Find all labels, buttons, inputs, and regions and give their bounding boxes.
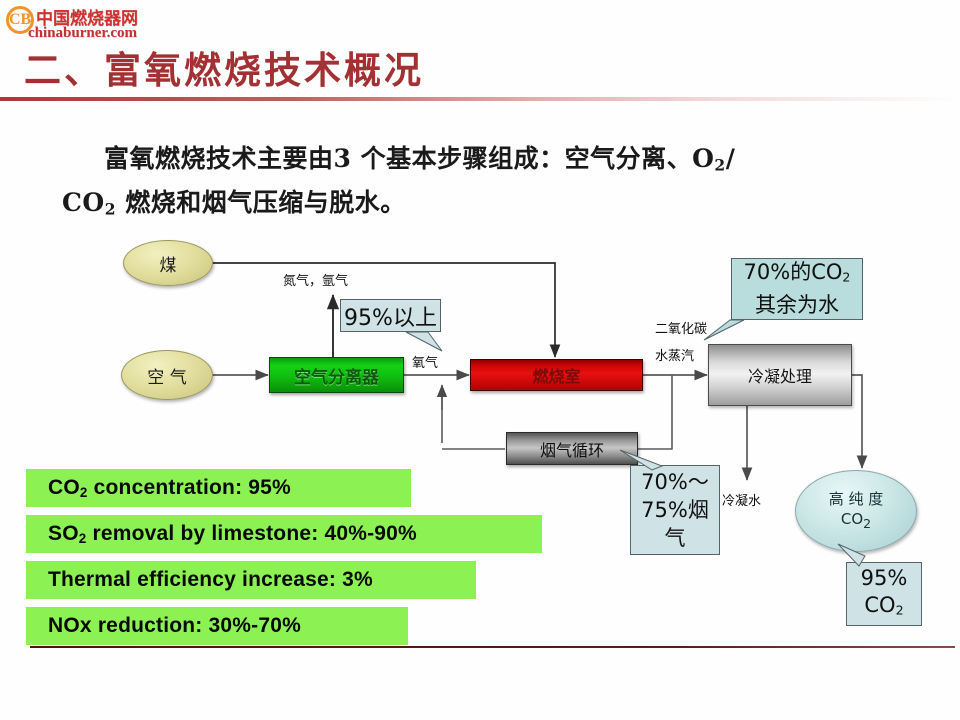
bullet-so2-removal: SO2 removal by limestone: 40%-90%: [26, 515, 542, 553]
callout-flue-gas-line2: 75%烟: [641, 496, 709, 524]
bullet-nox-reduction: NOx reduction: 30%-70%: [26, 607, 408, 645]
callout-co2-95-tail: [835, 542, 877, 568]
node-air-label: 空 气: [147, 363, 186, 388]
callout-co2-95-line1: 95%: [861, 565, 908, 592]
bullet-so2-removal-text: SO2 removal by limestone: 40%-90%: [48, 522, 417, 546]
node-furnace-label: 燃烧室: [532, 363, 580, 387]
slide-canvas: CB 中国燃烧器网 chinaburner.com 二、富氧燃烧技术概况 富氧燃…: [0, 0, 960, 720]
node-high-purity-co2-label-1: 高 纯 度: [829, 489, 884, 509]
node-air-separator-label: 空气分离器: [294, 363, 379, 388]
bullet-thermal-efficiency: Thermal efficiency increase: 3%: [26, 561, 476, 599]
node-condenser[interactable]: 冷凝处理: [708, 344, 852, 406]
bullet-co2-concentration-text: CO2 concentration: 95%: [48, 476, 291, 500]
callout-flue-gas-line3: 气: [665, 524, 686, 552]
callout-co2-70-line2: 其余为水: [755, 291, 839, 320]
node-high-purity-co2[interactable]: 高 纯 度 CO2: [795, 470, 917, 552]
callout-co2-70-tail: [700, 318, 746, 342]
callout-flue-gas-line1: 70%～: [641, 468, 709, 496]
callout-co2-70-line1: 70%的CO2: [744, 258, 851, 292]
bullet-thermal-efficiency-text: Thermal efficiency increase: 3%: [48, 568, 373, 592]
callout-purity-95-tail: [404, 331, 454, 355]
callout-co2-95-line2: CO2: [864, 592, 903, 624]
callout-co2-95: 95% CO2: [846, 562, 922, 626]
bullet-co2-concentration: CO2 concentration: 95%: [26, 469, 411, 507]
callout-purity-95: 95%以上: [340, 299, 441, 332]
callout-co2-70: 70%的CO2 其余为水: [731, 258, 863, 320]
edge-label-nitrogen-argon: 氮气，氩气: [283, 270, 348, 289]
callout-flue-gas-tail: [618, 448, 672, 472]
node-flue-gas-recycle-label: 烟气循环: [540, 437, 604, 461]
node-furnace[interactable]: 燃烧室: [470, 359, 643, 391]
callout-flue-gas-70-75: 70%～ 75%烟 气: [630, 465, 720, 555]
node-coal-label: 煤: [160, 251, 177, 276]
node-condenser-label: 冷凝处理: [748, 363, 812, 387]
edge-label-condensate-water: 冷凝水: [722, 490, 761, 509]
callout-purity-95-text: 95%以上: [344, 300, 437, 332]
node-air[interactable]: 空 气: [121, 350, 213, 400]
bullet-nox-reduction-text: NOx reduction: 30%-70%: [48, 614, 301, 638]
node-coal[interactable]: 煤: [123, 240, 213, 286]
node-air-separator[interactable]: 空气分离器: [269, 357, 404, 393]
edge-label-water-vapor: 水蒸汽: [655, 345, 694, 364]
node-high-purity-co2-label-2: CO2: [841, 509, 871, 534]
